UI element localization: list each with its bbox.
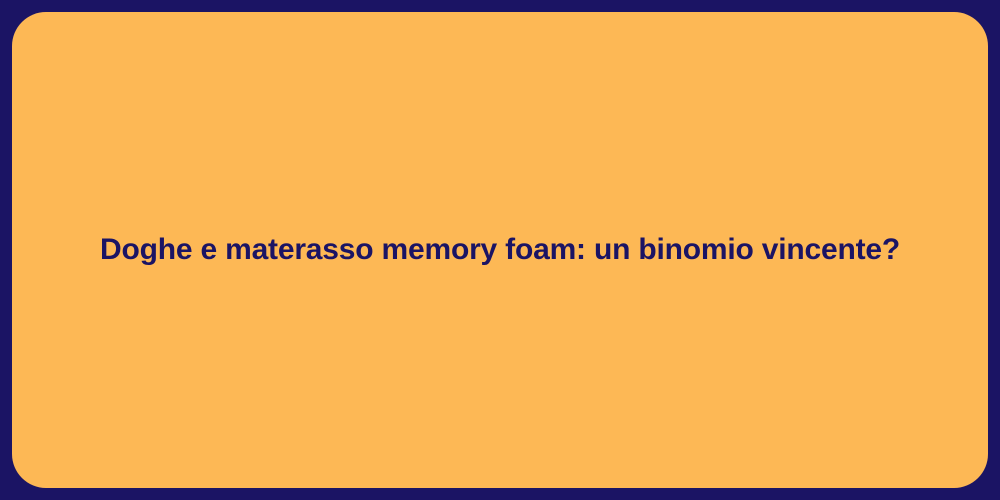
- page-frame: Doghe e materasso memory foam: un binomi…: [0, 0, 1000, 500]
- hero-card: Doghe e materasso memory foam: un binomi…: [12, 12, 988, 488]
- page-title: Doghe e materasso memory foam: un binomi…: [100, 231, 900, 269]
